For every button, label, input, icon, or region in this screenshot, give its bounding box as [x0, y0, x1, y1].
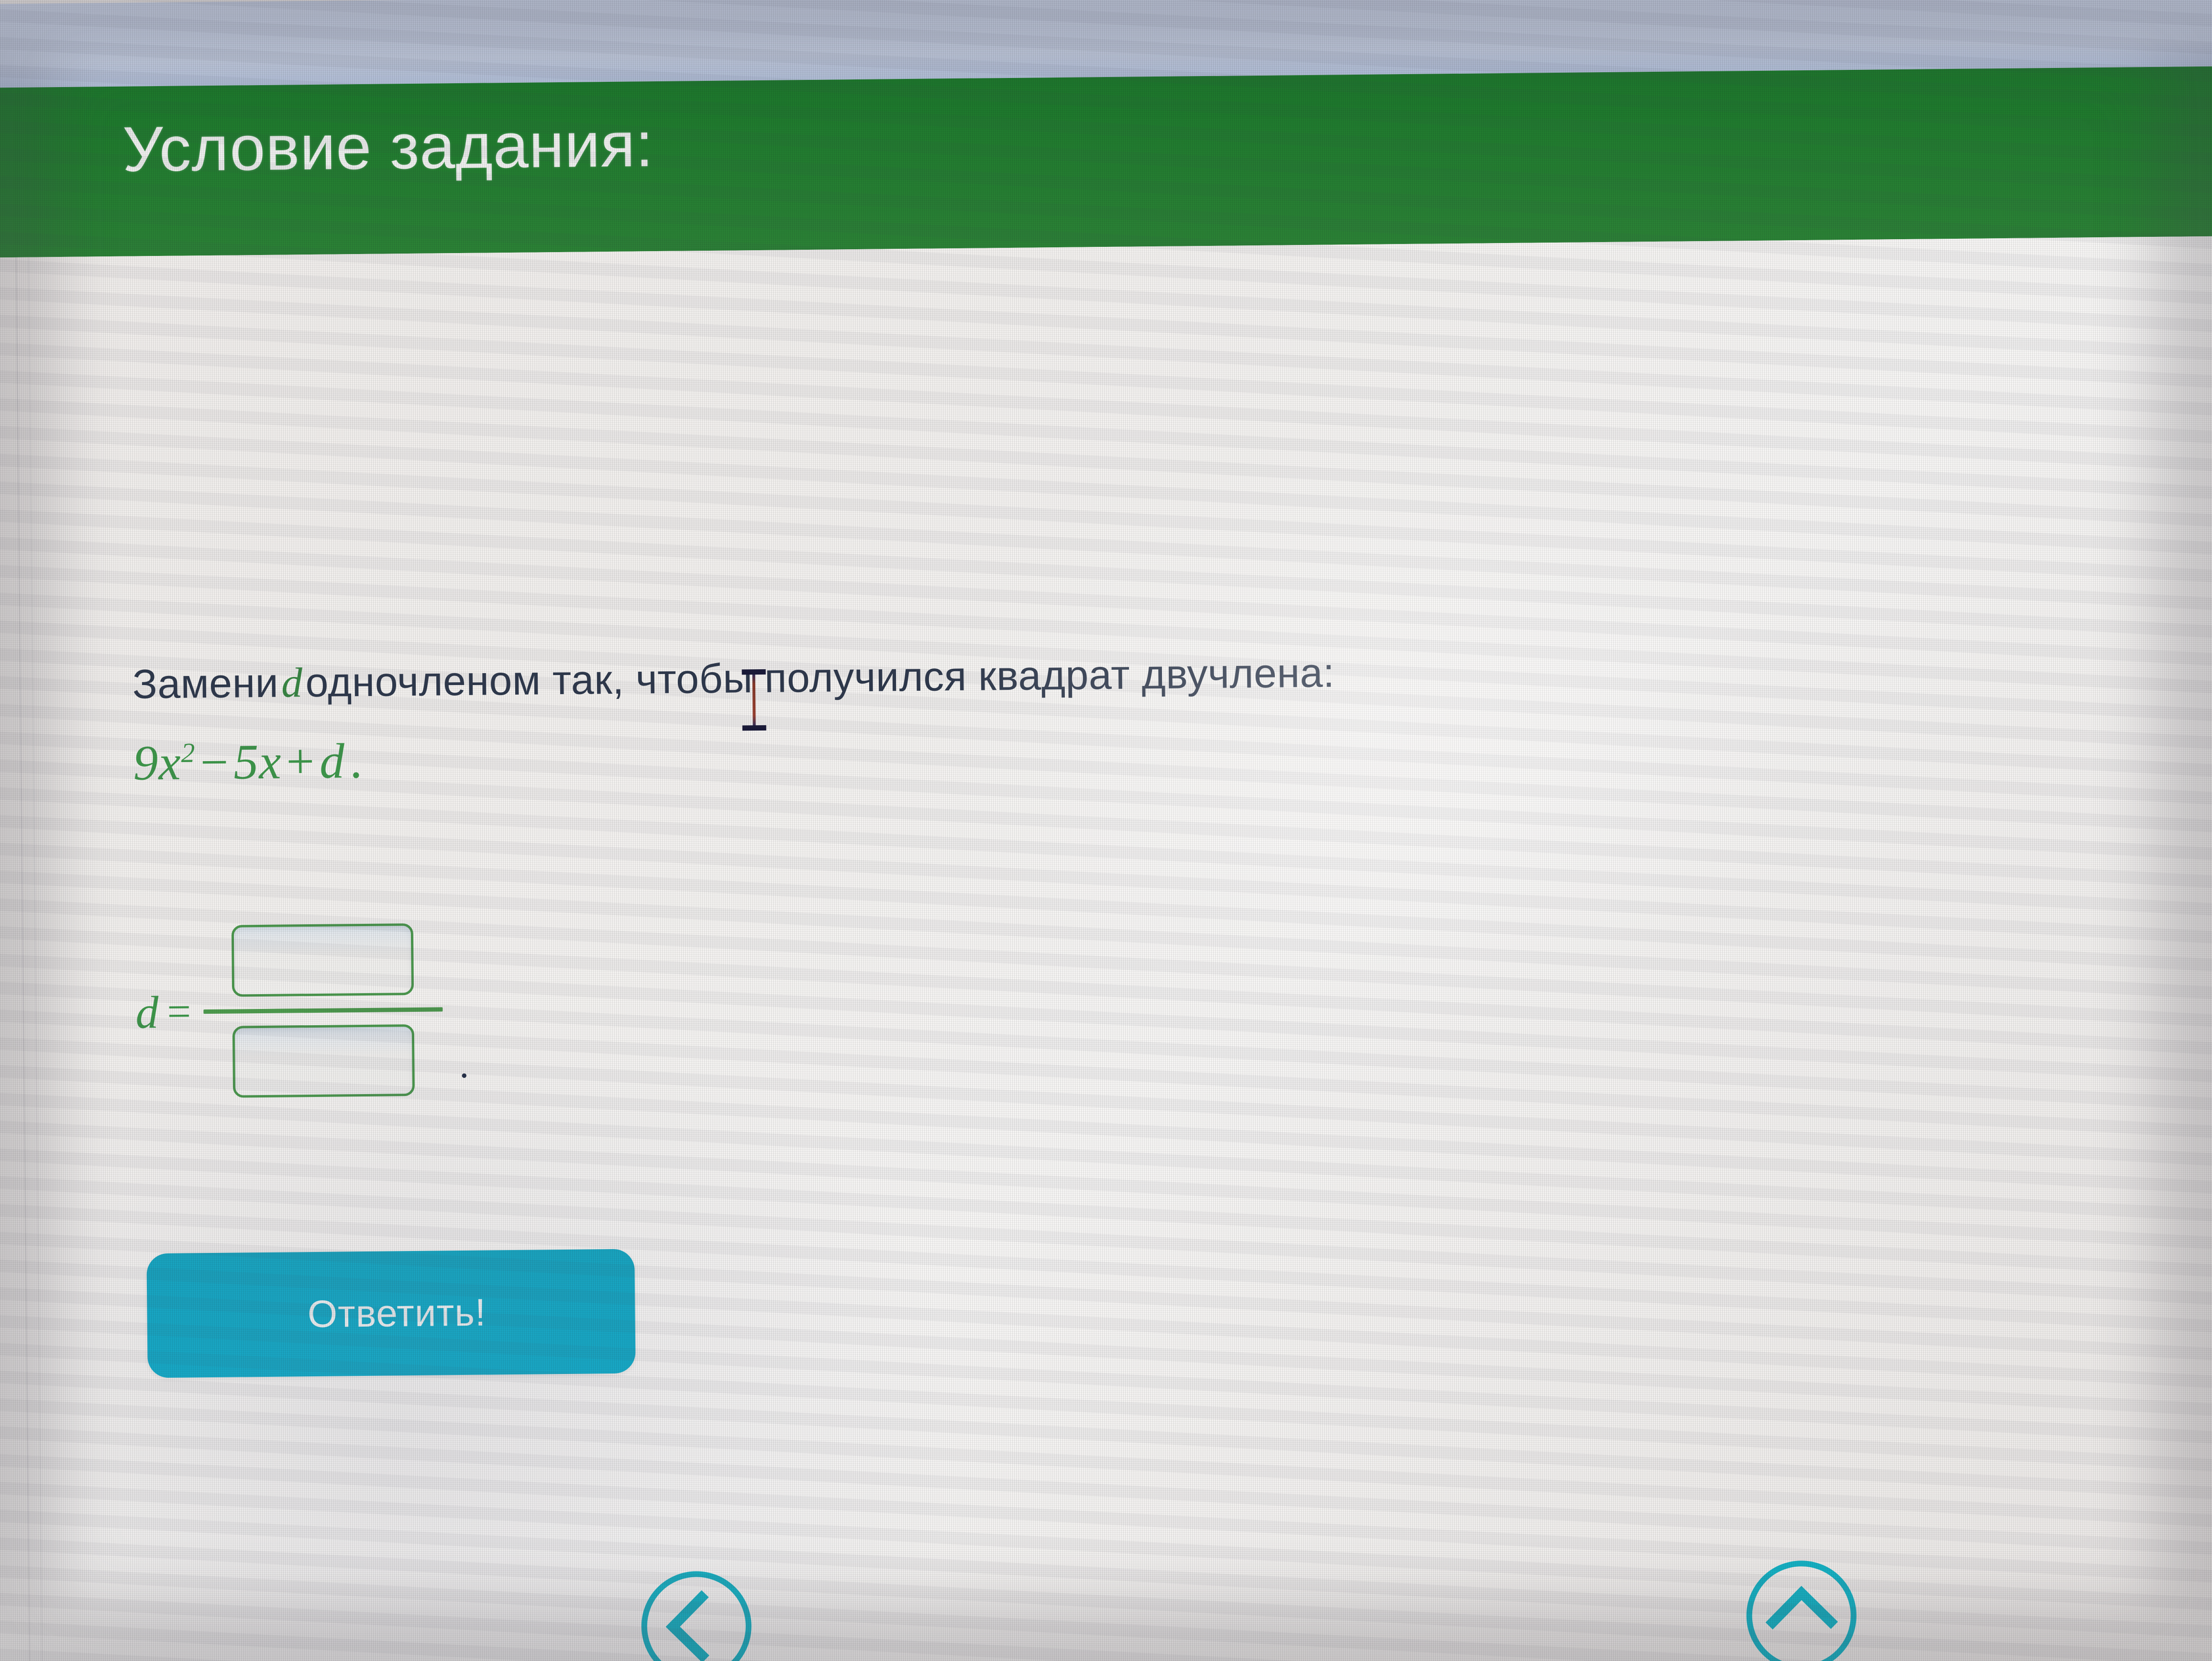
formula-term2-coefficient: 5 — [233, 734, 259, 790]
web-page: Условие задания: Замениdодночленом так, … — [0, 0, 2212, 1661]
formula-operator-plus: + — [281, 734, 320, 789]
formula-operator-minus: − — [195, 735, 234, 790]
chevron-left-glyph — [665, 1590, 738, 1661]
layout-gutter-line-2 — [28, 257, 43, 1661]
task-formula: 9x2−5x+d. — [133, 732, 368, 792]
submit-answer-button[interactable]: Ответить! — [146, 1249, 635, 1378]
text-cursor-icon — [752, 671, 756, 729]
denominator-input[interactable] — [232, 1024, 414, 1098]
answer-trailing-period: . — [443, 1043, 469, 1096]
task-statement: Замениdодночленом так, чтобы получился к… — [132, 649, 1335, 709]
task-statement-before: Замени — [132, 660, 278, 708]
task-variable-d: d — [278, 660, 306, 707]
page-title: Условие задания: — [122, 108, 654, 186]
formula-coefficient: 9 — [133, 735, 159, 791]
task-content-area: Замениdодночленом так, чтобы получился к… — [0, 236, 2212, 1661]
bottom-navigation: Предыдущее задание Вернуться в тему — [0, 1556, 2212, 1661]
numerator-input[interactable] — [231, 923, 413, 997]
formula-term3: d — [320, 733, 345, 789]
previous-task-nav[interactable]: Предыдущее задание — [466, 1569, 928, 1661]
formula-period: . — [345, 733, 368, 788]
back-to-topic-nav[interactable]: Вернуться в тему — [1557, 1558, 2047, 1661]
answer-equals-sign: = — [167, 987, 204, 1036]
chevron-left-circle-icon[interactable] — [641, 1571, 752, 1661]
formula-variable: x — [158, 735, 181, 790]
task-header-bar: Условие задания: — [0, 66, 2212, 258]
formula-term2-variable: x — [259, 734, 282, 789]
layout-gutter-line-1 — [15, 257, 31, 1661]
monitor-photo: Условие задания: Замениdодночленом так, … — [0, 0, 2212, 1661]
chevron-up-glyph — [1765, 1586, 1837, 1658]
fraction-bar — [203, 1007, 442, 1014]
task-statement-after: одночленом так, чтобы получился квадрат … — [305, 650, 1335, 706]
chevron-up-circle-icon[interactable] — [1746, 1560, 1857, 1661]
answer-fraction — [202, 923, 443, 1098]
formula-exponent: 2 — [181, 737, 196, 768]
answer-variable-label: d — [135, 986, 167, 1039]
answer-area: d = . — [135, 923, 469, 1099]
